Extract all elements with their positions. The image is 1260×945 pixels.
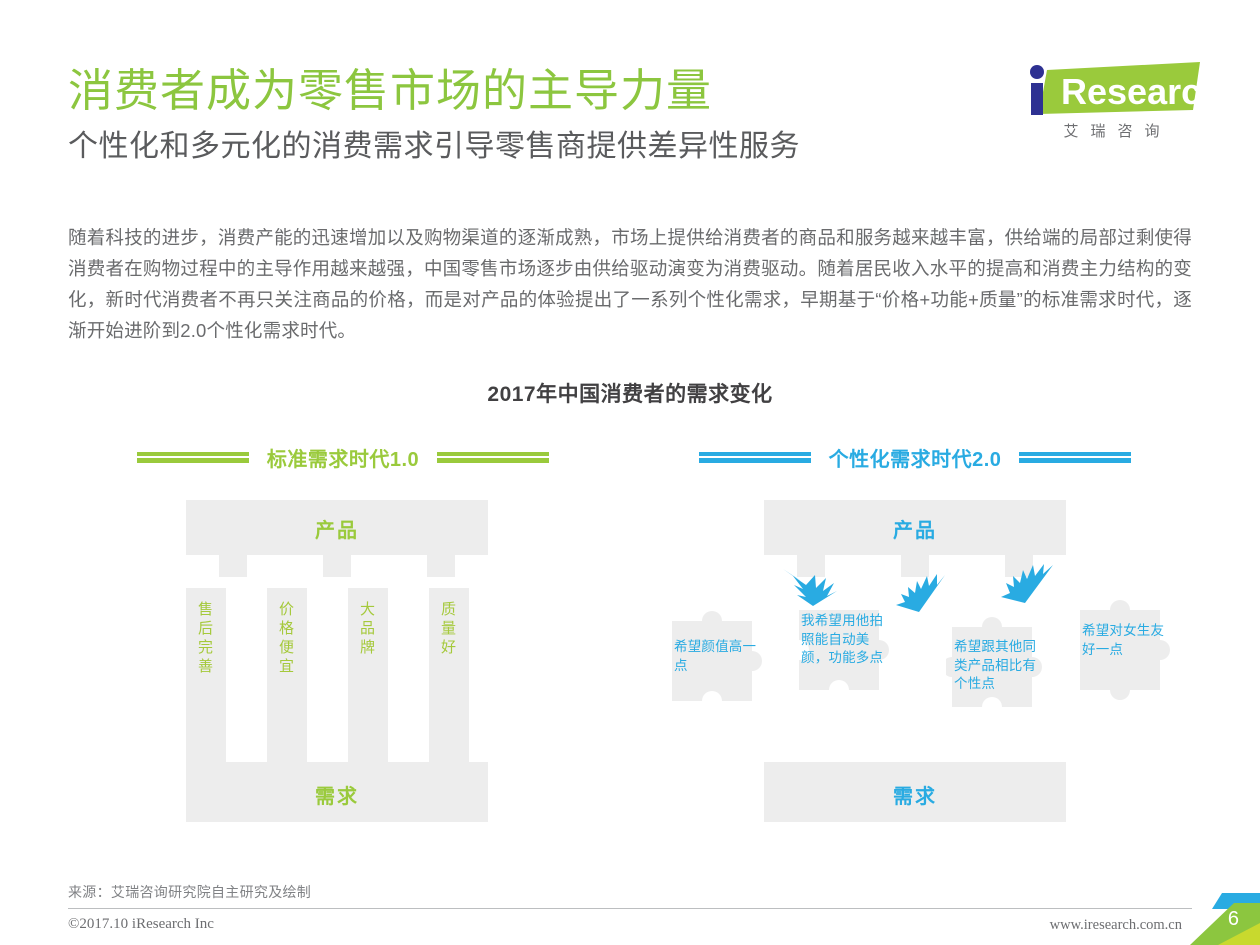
page-header: 消费者成为零售市场的主导力量 个性化和多元化的消费需求引导零售商提供差异性服务 (68, 62, 998, 168)
copyright-text: ©2017.10 iResearch Inc (68, 916, 214, 933)
connector-tab (219, 555, 247, 577)
corner-decoration (1182, 893, 1260, 945)
header-rule-left-green (137, 452, 249, 463)
product-bar-left-label: 产品 (186, 514, 488, 543)
wing-arrow-icon (998, 562, 1058, 606)
iresearch-logo: Research 艾瑞咨询 (1025, 62, 1200, 146)
page-subtitle: 个性化和多元化的消费需求引导零售商提供差异性服务 (68, 126, 998, 168)
need-column: 大品牌 (348, 588, 388, 773)
page-title: 消费者成为零售市场的主导力量 (68, 62, 998, 120)
section-header-standard: 标准需求时代1.0 (118, 440, 568, 474)
footer-divider (68, 908, 1192, 909)
need-column-label-3: 质量好 (429, 600, 469, 657)
section-header-standard-label: 标准需求时代1.0 (267, 443, 419, 472)
need-column: 质量好 (429, 588, 469, 773)
need-column-label-0: 售后完善 (186, 600, 226, 676)
puzzle-piece: 希望颜值高一点 (666, 607, 766, 707)
puzzle-piece-label-1: 我希望用他拍照能自动美颜，功能多点 (801, 612, 885, 668)
svg-text:Research: Research (1061, 71, 1200, 112)
puzzle-piece: 希望对女生友好一点 (1074, 596, 1174, 696)
demand-bar-right-label: 需求 (764, 780, 1066, 809)
puzzle-piece: 希望跟其他同类产品相比有个性点 (946, 613, 1046, 713)
section-header-personalized-label: 个性化需求时代2.0 (829, 443, 1002, 472)
header-rule-right-blue (1019, 452, 1131, 463)
need-column: 售后完善 (186, 588, 226, 773)
page-number: 6 (1228, 908, 1239, 931)
header-rule-left-blue (699, 452, 811, 463)
intro-paragraph: 随着科技的进步，消费产能的迅速增加以及购物渠道的逐渐成熟，市场上提供给消费者的商… (68, 222, 1192, 346)
diagram-personalized-era: 产品 希望颜值高一点 我希望用他拍照能自动美颜，功能多点 希望跟其他同类产品相比… (666, 500, 1186, 822)
need-column-label-2: 大品牌 (348, 600, 388, 657)
logo-mark-icon: Research (1025, 62, 1200, 118)
chart-title: 2017年中国消费者的需求变化 (0, 378, 1260, 408)
puzzle-piece: 我希望用他拍照能自动美颜，功能多点 (793, 596, 893, 696)
website-url: www.iresearch.com.cn (1050, 917, 1182, 934)
puzzle-piece-label-2: 希望跟其他同类产品相比有个性点 (954, 638, 1038, 694)
diagram-standard-era: 产品 售后完善 价格便宜 大品牌 质量好 需求 (186, 500, 488, 822)
puzzle-piece-label-0: 希望颜值高一点 (674, 638, 758, 675)
source-note: 来源：艾瑞咨询研究院自主研究及绘制 (68, 882, 311, 902)
header-rule-right-green (437, 452, 549, 463)
product-bar-right-label: 产品 (764, 514, 1066, 543)
need-column: 价格便宜 (267, 588, 307, 773)
logo-chinese-label: 艾瑞咨询 (1035, 120, 1200, 141)
puzzle-piece-label-3: 希望对女生友好一点 (1082, 622, 1166, 659)
connector-tab (427, 555, 455, 577)
need-column-label-1: 价格便宜 (267, 600, 307, 676)
connector-tab (323, 555, 351, 577)
section-header-personalized: 个性化需求时代2.0 (690, 440, 1140, 474)
demand-bar-left-label: 需求 (186, 780, 488, 809)
